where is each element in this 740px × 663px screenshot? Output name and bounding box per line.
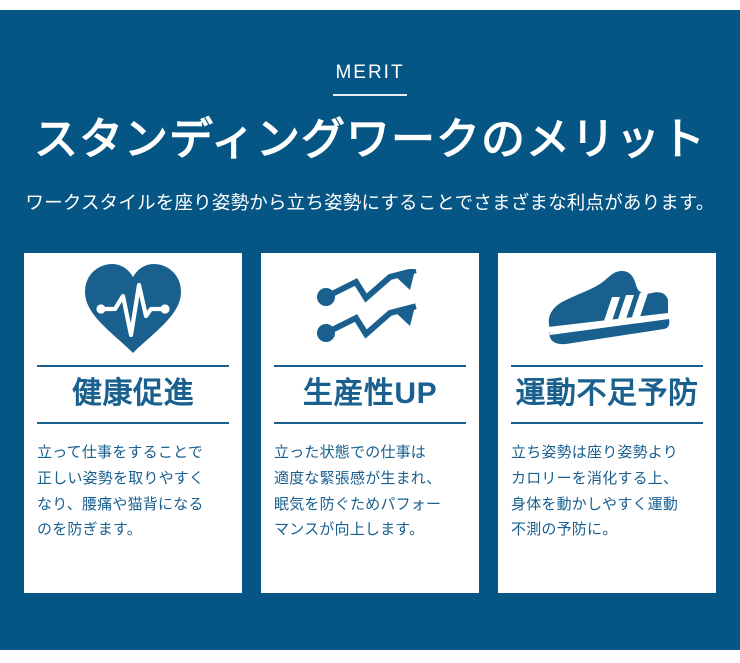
page-subtitle: ワークスタイルを座り姿勢から立ち姿勢にすることでさまざまな利点があります。 (0, 191, 740, 215)
body-line: のを防ぎます。 (37, 517, 229, 543)
merit-card-body: 立ち姿勢は座り姿勢より カロリーを消化する上、 身体を動かしやすく運動 不測の予… (511, 440, 703, 543)
eyebrow-wrap: MERIT (0, 10, 740, 96)
body-line: なり、腰痛や猫背になる (37, 492, 229, 518)
eyebrow-divider (333, 94, 407, 96)
icon-box (274, 255, 466, 365)
heart-pulse-icon (81, 261, 185, 360)
body-line: 適度な緊張感が生まれ、 (274, 466, 466, 492)
title-rule-bottom (511, 422, 703, 424)
merit-card-body: 立って仕事をすることで 正しい姿勢を取りやすく なり、腰痛や猫背になる のを防ぎ… (37, 440, 229, 543)
rising-arrows-icon (314, 269, 426, 352)
body-line: マンスが向上します。 (274, 517, 466, 543)
header-section: MERIT スタンディングワークのメリット ワークスタイルを座り姿勢から立ち姿勢… (0, 10, 740, 215)
merit-card-title: 運動不足予防 (516, 367, 699, 422)
body-line: 眠気を防ぐためパフォー (274, 492, 466, 518)
body-line: 立って仕事をすることで (37, 440, 229, 466)
body-line: 立った状態での仕事は (274, 440, 466, 466)
merit-card-productivity: 生産性UP 立った状態での仕事は 適度な緊張感が生まれ、 眠気を防ぐためパフォー… (261, 253, 479, 593)
merit-card-title: 生産性UP (303, 367, 437, 422)
title-rule-bottom (274, 422, 466, 424)
icon-box (37, 255, 229, 365)
merit-card-health: 健康促進 立って仕事をすることで 正しい姿勢を取りやすく なり、腰痛や猫背になる… (24, 253, 242, 593)
merit-card-title: 健康促進 (72, 367, 194, 422)
body-line: 不測の予防に。 (511, 517, 703, 543)
sneaker-icon (542, 267, 672, 354)
title-rule-bottom (37, 422, 229, 424)
merit-card-list: 健康促進 立って仕事をすることで 正しい姿勢を取りやすく なり、腰痛や猫背になる… (24, 253, 716, 593)
icon-box (511, 255, 703, 365)
merit-infographic: MERIT スタンディングワークのメリット ワークスタイルを座り姿勢から立ち姿勢… (0, 0, 740, 663)
merit-card-body: 立った状態での仕事は 適度な緊張感が生まれ、 眠気を防ぐためパフォー マンスが向… (274, 440, 466, 543)
body-line: 立ち姿勢は座り姿勢より (511, 440, 703, 466)
eyebrow-label: MERIT (335, 63, 404, 82)
merit-card-exercise: 運動不足予防 立ち姿勢は座り姿勢より カロリーを消化する上、 身体を動かしやすく… (498, 253, 716, 593)
body-line: 正しい姿勢を取りやすく (37, 466, 229, 492)
page-title: スタンディングワークのメリット (0, 114, 740, 165)
body-line: 身体を動かしやすく運動 (511, 492, 703, 518)
body-line: カロリーを消化する上、 (511, 466, 703, 492)
